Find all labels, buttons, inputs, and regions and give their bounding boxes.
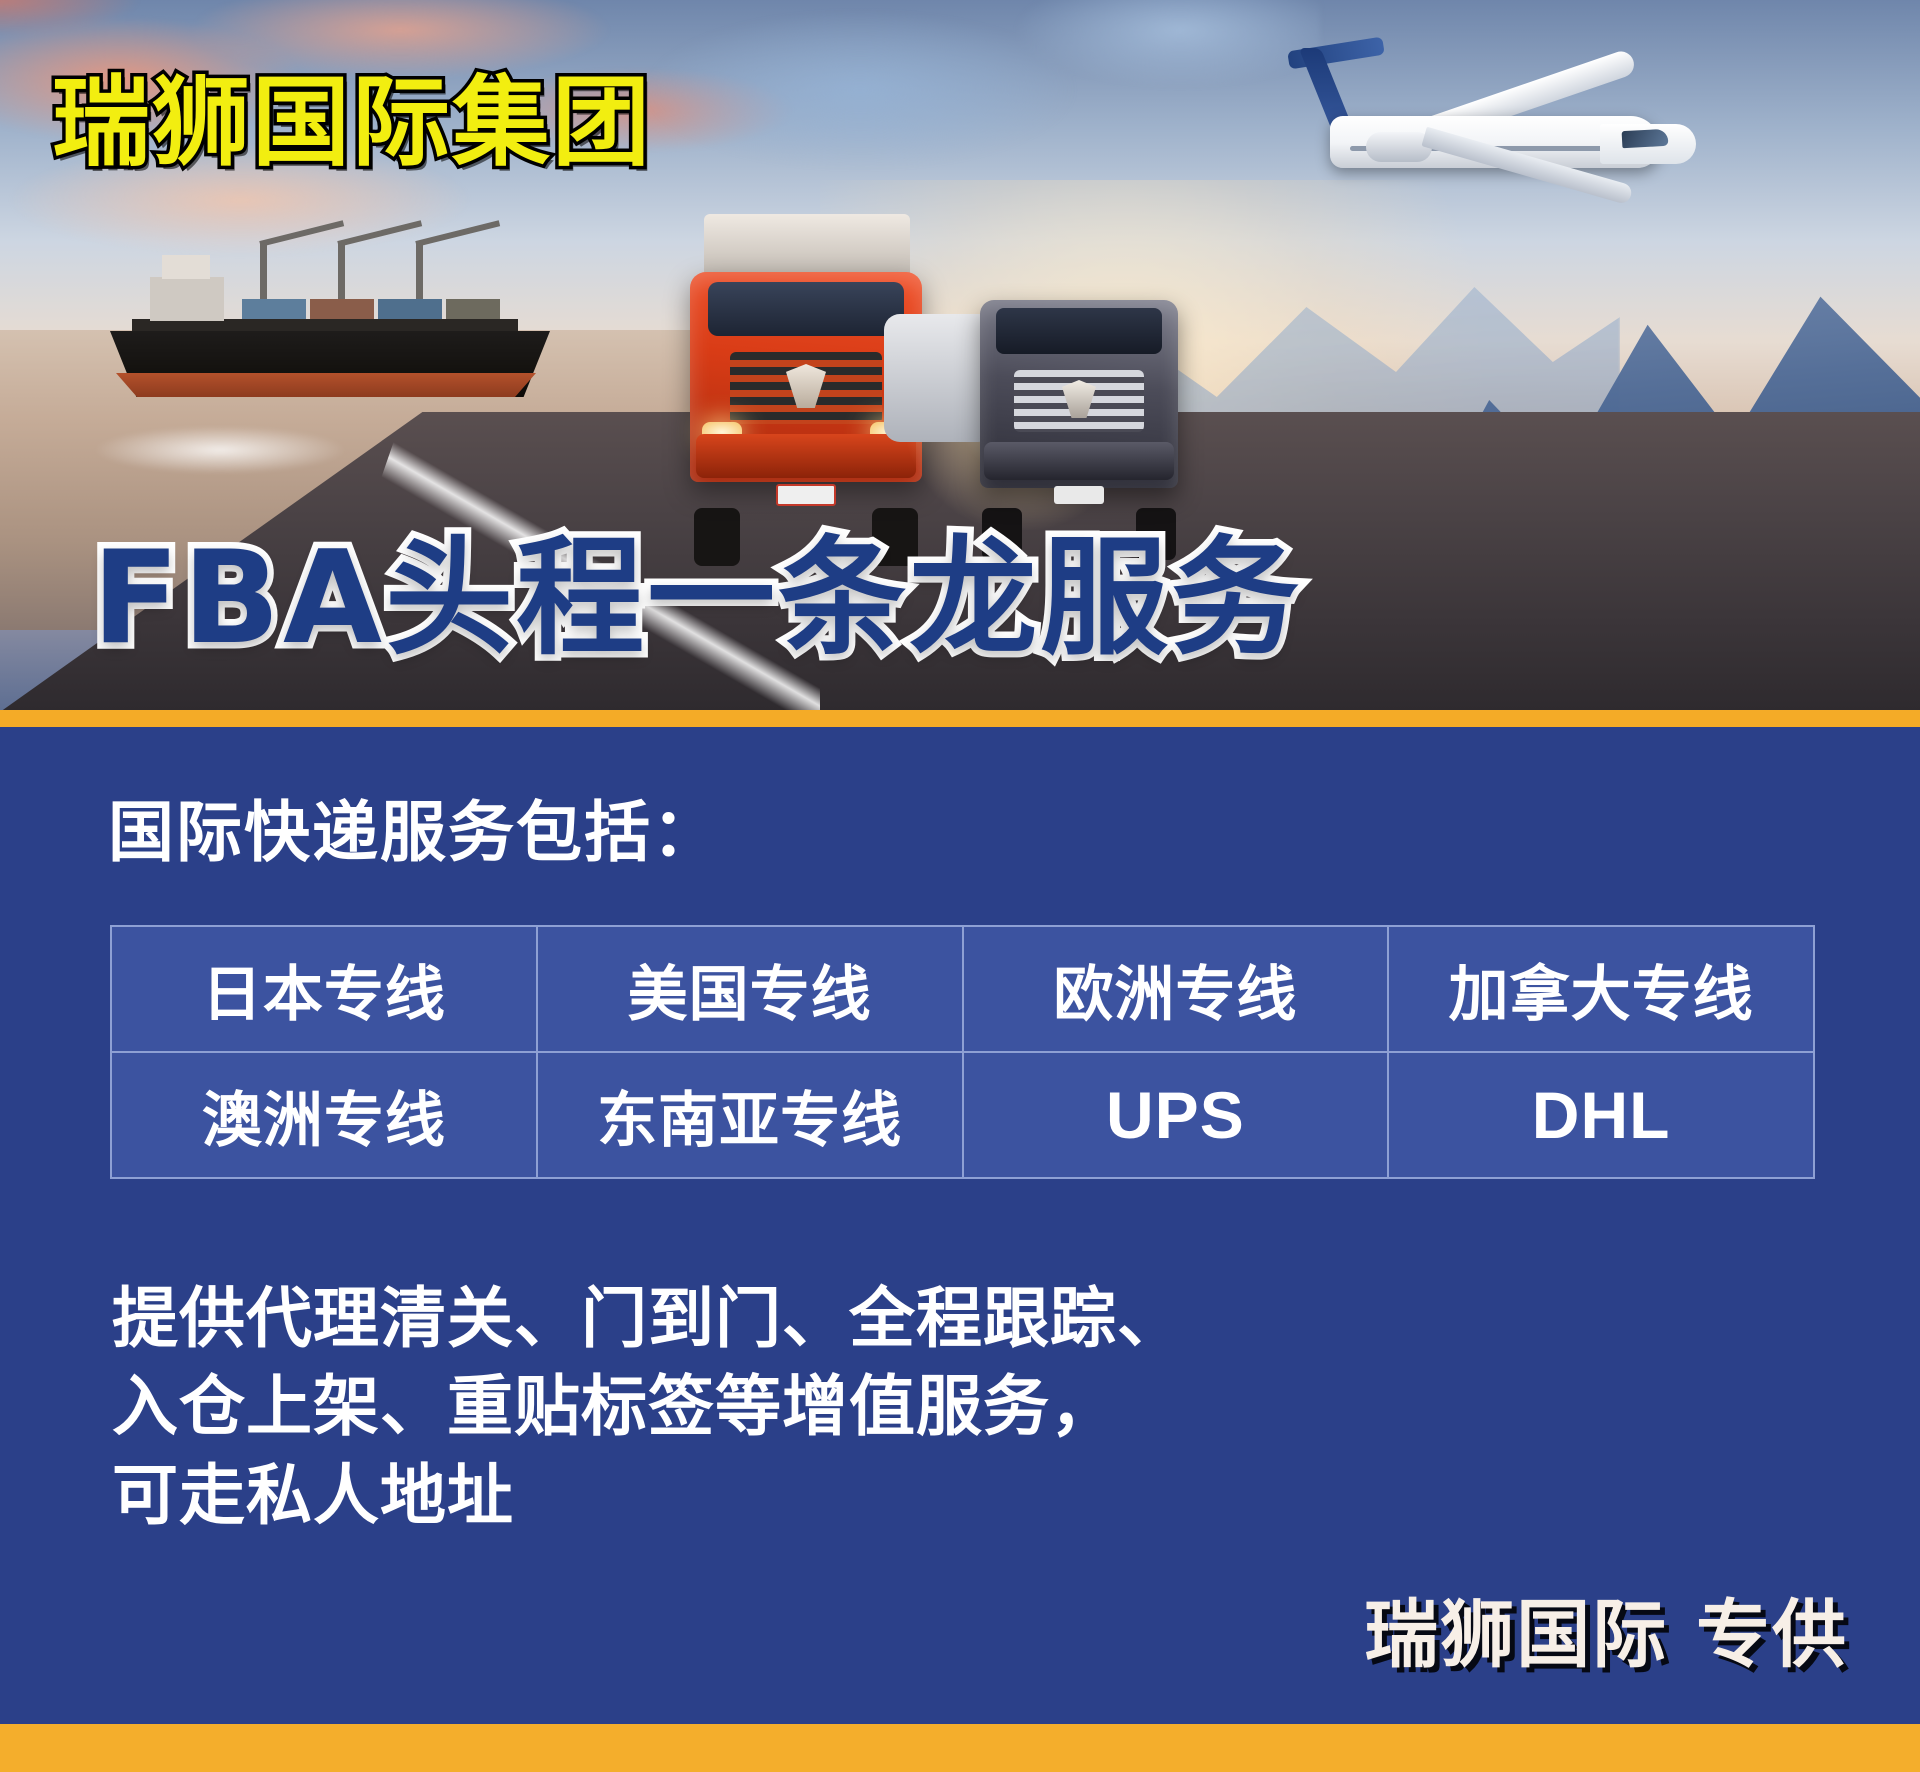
table-cell-europe: 欧洲专线 — [963, 926, 1389, 1052]
table-cell-dhl: DHL — [1388, 1052, 1814, 1178]
table-cell-southeast-asia: 东南亚专线 — [537, 1052, 963, 1178]
table-cell-australia: 澳洲专线 — [111, 1052, 537, 1178]
description-line-2: 入仓上架、重贴标签等增值服务， — [112, 1363, 1512, 1451]
table-row: 日本专线 美国专线 欧洲专线 加拿大专线 — [111, 926, 1814, 1052]
table-cell-ups: UPS — [963, 1052, 1389, 1178]
table-cell-japan: 日本专线 — [111, 926, 537, 1052]
page-title: FBA头程一条龙服务 — [92, 535, 1302, 663]
services-table: 日本专线 美国专线 欧洲专线 加拿大专线 澳洲专线 东南亚专线 UPS DHL — [110, 925, 1815, 1179]
poster-root: 瑞狮国际集团 FBA头程一条龙服务 国际快递服务包括： 日本专线 美国专线 欧洲… — [0, 0, 1920, 1772]
business-jet-icon — [1270, 28, 1700, 238]
table-cell-usa: 美国专线 — [537, 926, 963, 1052]
cargo-ship-icon — [110, 232, 550, 397]
description-line-1: 提供代理清关、门到门、全程跟踪、 — [112, 1275, 1512, 1363]
service-description: 提供代理清关、门到门、全程跟踪、 入仓上架、重贴标签等增值服务， 可走私人地址 — [112, 1275, 1512, 1540]
accent-divider-bottom — [0, 1724, 1920, 1772]
brand-logo-text: 瑞狮国际集团 — [52, 74, 652, 172]
description-line-3: 可走私人地址 — [112, 1452, 1512, 1540]
accent-divider-top — [0, 710, 1920, 727]
info-panel — [0, 727, 1920, 1724]
section-title: 国际快递服务包括： — [108, 800, 720, 866]
footer-brand-text: 瑞狮国际 专供 — [1364, 1598, 1848, 1672]
table-cell-canada: 加拿大专线 — [1388, 926, 1814, 1052]
table-row: 澳洲专线 东南亚专线 UPS DHL — [111, 1052, 1814, 1178]
